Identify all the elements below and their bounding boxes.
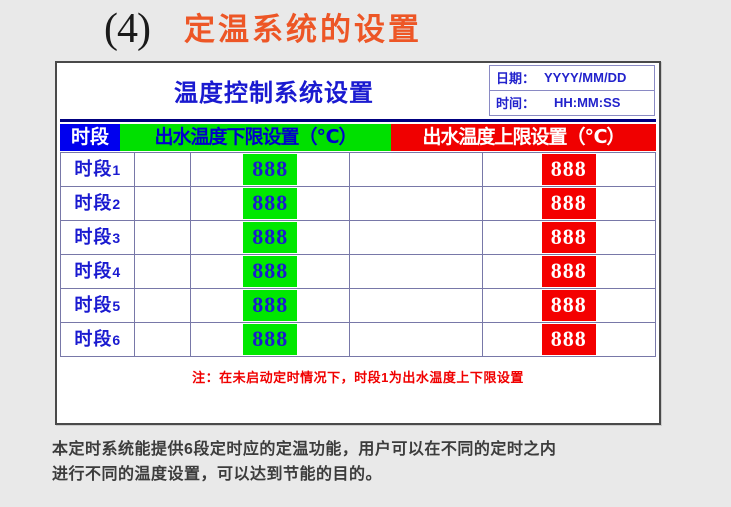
spacer-cell-right (350, 221, 482, 255)
period-label-cell: 时段1 (61, 153, 135, 187)
spacer-cell-left (134, 153, 190, 187)
page-title: 定温系统的设置 (184, 14, 422, 45)
page-heading: (4) 定温系统的设置 (0, 4, 731, 54)
heading-number: (4) (104, 8, 150, 50)
table-row: 时段5888888 (61, 289, 656, 323)
table-row: 时段6888888 (61, 323, 656, 357)
panel-note: 注：在未启动定时情况下，时段1为出水温度上下限设置 (57, 367, 659, 386)
lower-limit-value[interactable]: 888 (243, 256, 297, 287)
upper-limit-value[interactable]: 888 (542, 290, 596, 321)
upper-limit-value[interactable]: 888 (542, 222, 596, 253)
period-index: 5 (112, 298, 120, 314)
date-label: 日期： (496, 68, 544, 87)
lower-limit-value[interactable]: 888 (243, 188, 297, 219)
period-label: 时段5 (74, 295, 120, 315)
lower-limit-value[interactable]: 888 (243, 290, 297, 321)
period-label-cell: 时段2 (61, 187, 135, 221)
column-header-lower-limit: 出水温度下限设置（℃） (120, 124, 391, 151)
spacer-cell-left (134, 323, 190, 357)
column-header-upper-limit: 出水温度上限设置（℃） (391, 124, 656, 151)
period-label-cell: 时段3 (61, 221, 135, 255)
title-divider (60, 119, 656, 122)
lower-limit-cell[interactable]: 888 (191, 289, 350, 323)
upper-limit-cell[interactable]: 888 (482, 153, 655, 187)
period-index: 6 (112, 332, 120, 348)
description-line-2: 进行不同的温度设置，可以达到节能的目的。 (52, 462, 692, 487)
description-line-1: 本定时系统能提供6段定时应的定温功能，用户可以在不同的定时之内 (52, 437, 692, 462)
spacer-cell-right (350, 153, 482, 187)
upper-limit-value[interactable]: 888 (542, 256, 596, 287)
spacer-cell-right (350, 323, 482, 357)
datetime-box: 日期： YYYY/MM/DD 时间： HH:MM:SS (489, 65, 655, 116)
period-label-cell: 时段6 (61, 323, 135, 357)
period-label: 时段6 (74, 329, 120, 349)
lower-limit-cell[interactable]: 888 (191, 323, 350, 357)
table-row: 时段3888888 (61, 221, 656, 255)
upper-limit-cell[interactable]: 888 (482, 221, 655, 255)
lower-limit-cell[interactable]: 888 (191, 221, 350, 255)
period-index: 1 (112, 162, 120, 178)
lower-limit-cell[interactable]: 888 (191, 255, 350, 289)
period-label: 时段4 (74, 261, 120, 281)
table-row: 时段2888888 (61, 187, 656, 221)
spacer-cell-left (134, 289, 190, 323)
period-label: 时段3 (74, 227, 120, 247)
upper-limit-value[interactable]: 888 (542, 188, 596, 219)
period-index: 4 (112, 264, 120, 280)
spacer-cell-right (350, 187, 482, 221)
upper-limit-cell[interactable]: 888 (482, 289, 655, 323)
spacer-cell-right (350, 255, 482, 289)
lower-limit-cell[interactable]: 888 (191, 187, 350, 221)
period-label: 时段1 (74, 159, 120, 179)
panel-titlebar: 温度控制系统设置 日期： YYYY/MM/DD 时间： HH:MM:SS (57, 63, 659, 118)
period-index: 2 (112, 196, 120, 212)
column-header-period: 时段 (60, 124, 120, 151)
upper-limit-cell[interactable]: 888 (482, 323, 655, 357)
spacer-cell-left (134, 255, 190, 289)
temperature-control-panel: 温度控制系统设置 日期： YYYY/MM/DD 时间： HH:MM:SS 时段 … (55, 61, 661, 425)
period-label-cell: 时段4 (61, 255, 135, 289)
period-label: 时段2 (74, 193, 120, 213)
spacer-cell-right (350, 289, 482, 323)
lower-limit-value[interactable]: 888 (243, 324, 297, 355)
description-text: 本定时系统能提供6段定时应的定温功能，用户可以在不同的定时之内 进行不同的温度设… (52, 437, 692, 487)
lower-limit-value[interactable]: 888 (243, 222, 297, 253)
lower-limit-value[interactable]: 888 (243, 154, 297, 185)
time-value: HH:MM:SS (554, 95, 620, 110)
lower-limit-cell[interactable]: 888 (191, 153, 350, 187)
date-row: 日期： YYYY/MM/DD (490, 66, 654, 91)
table-row: 时段1888888 (61, 153, 656, 187)
time-label: 时间： (496, 93, 544, 112)
date-value: YYYY/MM/DD (544, 70, 626, 85)
period-index: 3 (112, 230, 120, 246)
column-header-row: 时段 出水温度下限设置（℃） 出水温度上限设置（℃） (60, 124, 656, 151)
period-label-cell: 时段5 (61, 289, 135, 323)
upper-limit-value[interactable]: 888 (542, 154, 596, 185)
upper-limit-cell[interactable]: 888 (482, 255, 655, 289)
period-settings-table: 时段1888888时段2888888时段3888888时段4888888时段58… (60, 152, 656, 357)
panel-title: 温度控制系统设置 (57, 63, 491, 118)
spacer-cell-left (134, 187, 190, 221)
upper-limit-cell[interactable]: 888 (482, 187, 655, 221)
spacer-cell-left (134, 221, 190, 255)
table-row: 时段4888888 (61, 255, 656, 289)
time-row: 时间： HH:MM:SS (490, 91, 654, 116)
upper-limit-value[interactable]: 888 (542, 324, 596, 355)
